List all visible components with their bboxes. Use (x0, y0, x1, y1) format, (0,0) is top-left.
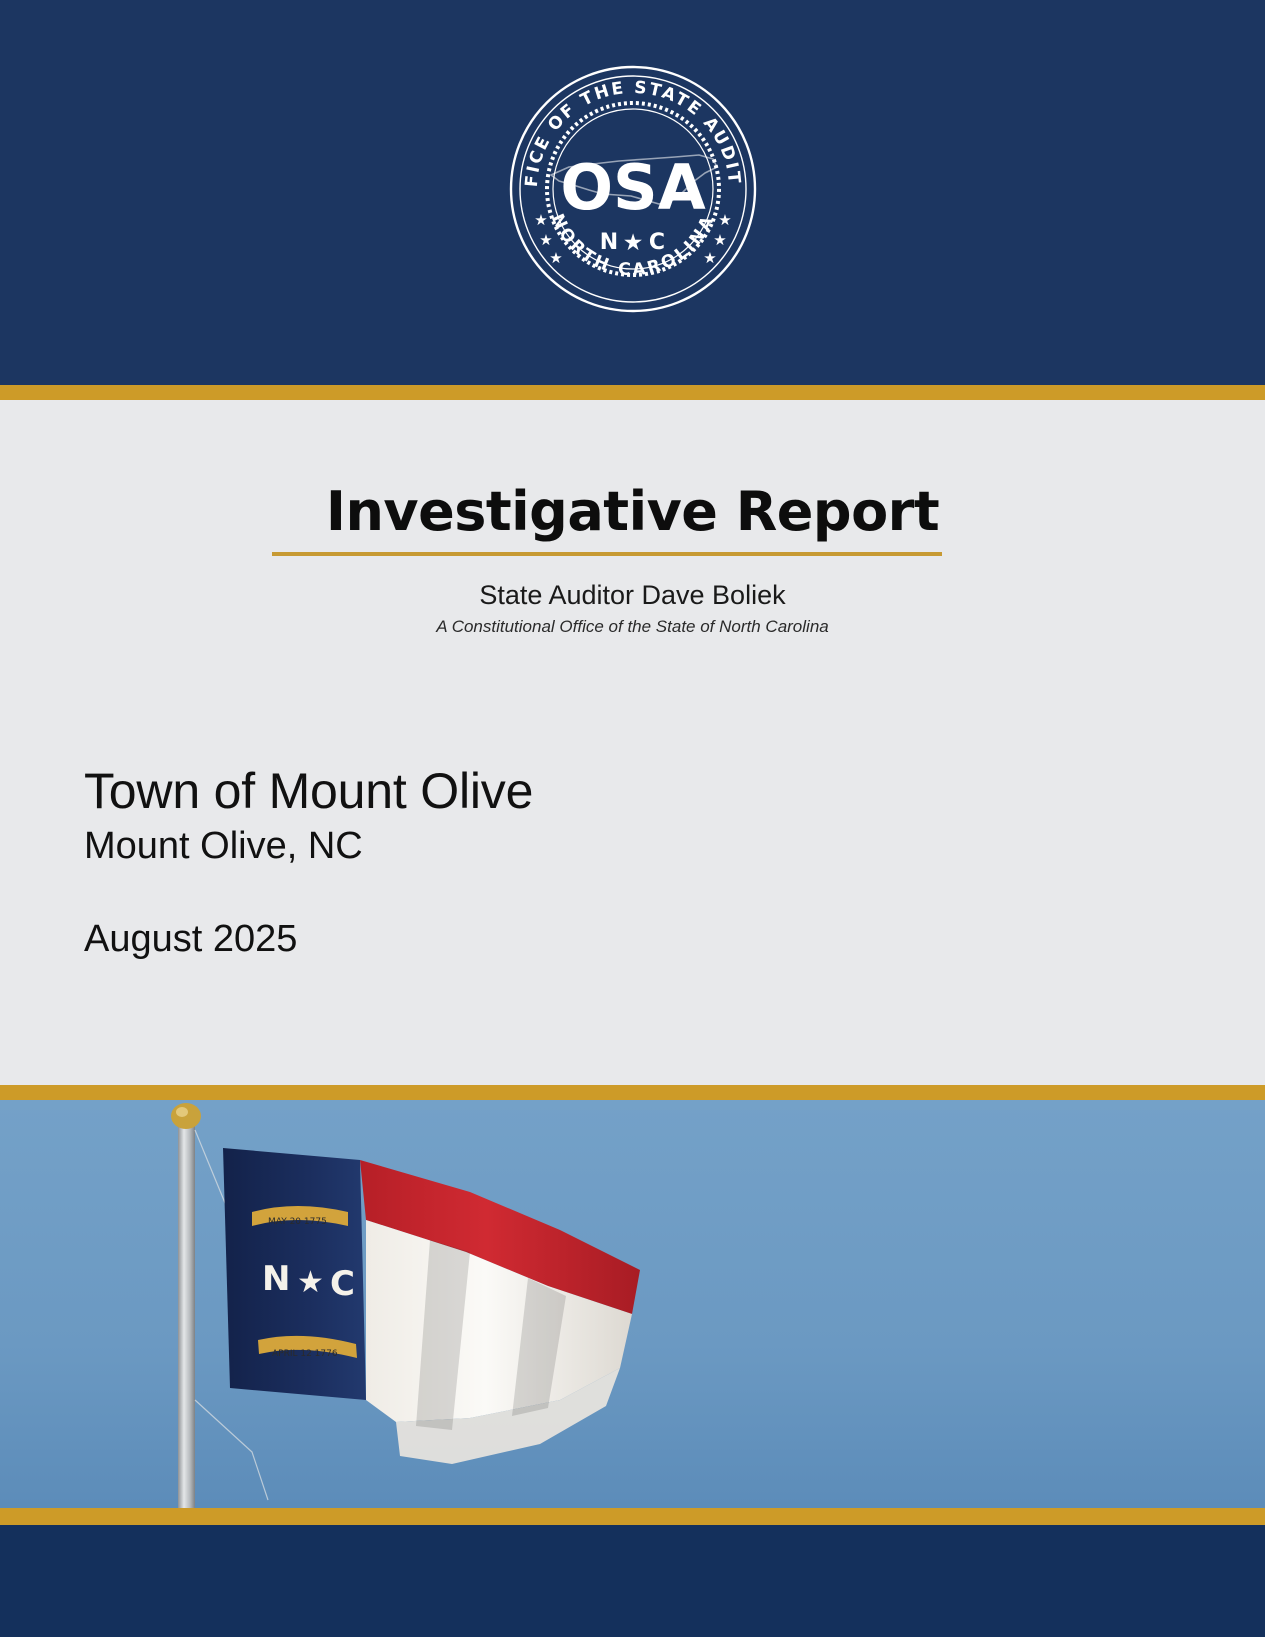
cover-content-area: Investigative Report State Auditor Dave … (0, 400, 1265, 1085)
report-cover-page: OSA N ★ C OFFICE OF THE STATE AUDITOR NO… (0, 0, 1265, 1637)
svg-text:N: N (262, 1259, 290, 1299)
seal-monogram-text: OSA (560, 151, 705, 224)
gold-divider-middle (0, 1085, 1265, 1100)
audited-entity-location: Mount Olive, NC (84, 825, 363, 868)
page-title: Investigative Report (0, 480, 1265, 543)
footer-band (0, 1525, 1265, 1637)
seal-state-abbr-left: N (599, 230, 617, 255)
svg-text:C: C (330, 1264, 355, 1304)
svg-text:APRIL 12 1776: APRIL 12 1776 (272, 1349, 338, 1359)
svg-text:★: ★ (718, 211, 731, 229)
report-date: August 2025 (84, 918, 297, 961)
auditor-name: State Auditor Dave Boliek (0, 580, 1265, 611)
svg-text:★: ★ (539, 231, 552, 249)
title-underline-rule (272, 552, 942, 556)
constitutional-office-line: A Constitutional Office of the State of … (0, 617, 1265, 637)
gold-divider-bottom (0, 1508, 1265, 1525)
seal-center-star-icon: ★ (622, 230, 643, 256)
audited-entity-name: Town of Mount Olive (84, 762, 533, 820)
svg-text:★: ★ (713, 231, 726, 249)
osa-seal-icon: OSA N ★ C OFFICE OF THE STATE AUDITOR NO… (507, 63, 759, 315)
header-band: OSA N ★ C OFFICE OF THE STATE AUDITOR NO… (0, 0, 1265, 385)
svg-text:MAY 20 1775: MAY 20 1775 (268, 1217, 327, 1227)
svg-text:★: ★ (549, 249, 562, 267)
svg-text:★: ★ (703, 249, 716, 267)
gold-divider-top (0, 385, 1265, 400)
svg-text:★: ★ (534, 211, 547, 229)
seal-state-abbr-right: C (648, 230, 664, 255)
flag-photo: N ★ C MAY 20 1775 APRIL 12 1776 (0, 1100, 1265, 1508)
svg-text:★: ★ (297, 1265, 324, 1300)
